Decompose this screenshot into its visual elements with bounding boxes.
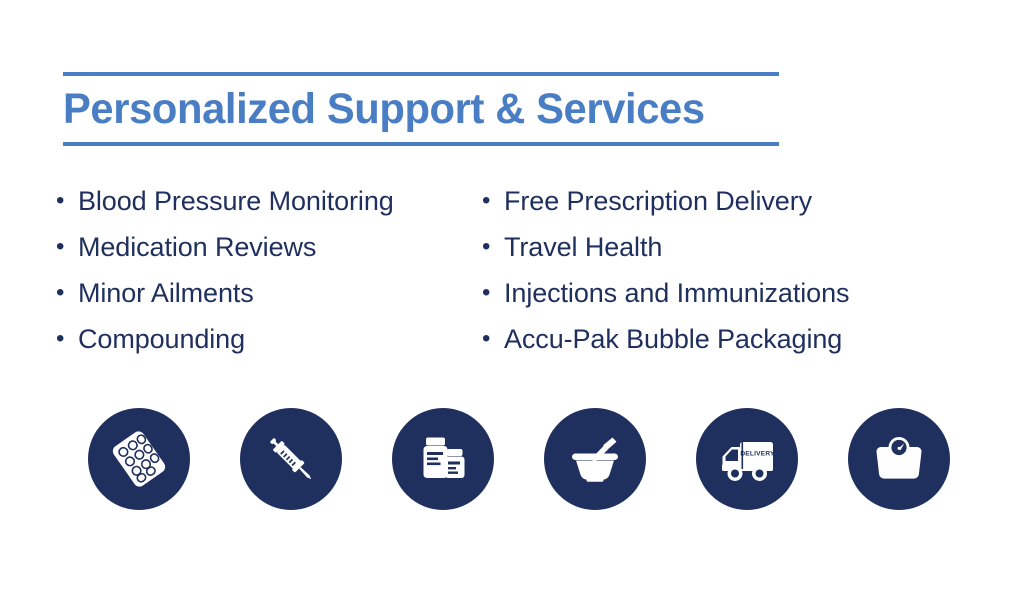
title-rule-bottom xyxy=(63,142,779,146)
page-title: Personalized Support & Services xyxy=(63,76,758,142)
services-column-right: • Free Prescription Delivery • Travel He… xyxy=(482,178,1025,362)
list-item: • Injections and Immunizations xyxy=(482,270,1025,316)
pill-bottles-icon xyxy=(412,428,474,490)
service-label: Compounding xyxy=(78,316,245,362)
icon-badge-blister-pack xyxy=(88,408,190,510)
service-label: Minor Ailments xyxy=(78,270,254,316)
list-item: • Compounding xyxy=(56,316,482,362)
icon-badge-weight-scale xyxy=(848,408,950,510)
list-item: • Minor Ailments xyxy=(56,270,482,316)
bullet-dot-icon: • xyxy=(482,270,504,316)
services-columns: • Blood Pressure Monitoring • Medication… xyxy=(0,178,1025,362)
bullet-dot-icon: • xyxy=(56,270,78,316)
service-label: Medication Reviews xyxy=(78,224,316,270)
bullet-dot-icon: • xyxy=(482,224,504,270)
slide-canvas: Personalized Support & Services • Blood … xyxy=(0,0,1025,590)
service-label: Injections and Immunizations xyxy=(504,270,849,316)
bullet-dot-icon: • xyxy=(56,178,78,224)
list-item: • Travel Health xyxy=(482,224,1025,270)
syringe-icon xyxy=(260,428,322,490)
heading-block: Personalized Support & Services xyxy=(63,72,779,146)
list-item: • Accu-Pak Bubble Packaging xyxy=(482,316,1025,362)
icon-badge-delivery-truck: DELIVERY xyxy=(696,408,798,510)
weight-scale-icon xyxy=(868,428,930,490)
icon-badge-pill-bottles xyxy=(392,408,494,510)
list-item: • Medication Reviews xyxy=(56,224,482,270)
icon-badge-syringe xyxy=(240,408,342,510)
bullet-dot-icon: • xyxy=(56,224,78,270)
service-label: Accu-Pak Bubble Packaging xyxy=(504,316,842,362)
blister-pack-icon xyxy=(108,428,170,490)
bullet-dot-icon: • xyxy=(56,316,78,362)
service-label: Travel Health xyxy=(504,224,662,270)
list-item: • Free Prescription Delivery xyxy=(482,178,1025,224)
bullet-dot-icon: • xyxy=(482,178,504,224)
services-column-left: • Blood Pressure Monitoring • Medication… xyxy=(0,178,482,362)
delivery-truck-icon: DELIVERY xyxy=(714,426,780,492)
delivery-van-text: DELIVERY xyxy=(740,451,775,458)
services-list-left: • Blood Pressure Monitoring • Medication… xyxy=(56,178,482,362)
icon-badge-mortar-pestle xyxy=(544,408,646,510)
mortar-pestle-icon xyxy=(563,427,627,491)
service-label: Blood Pressure Monitoring xyxy=(78,178,394,224)
bullet-dot-icon: • xyxy=(482,316,504,362)
service-icon-row: DELIVERY xyxy=(88,408,950,510)
service-label: Free Prescription Delivery xyxy=(504,178,812,224)
list-item: • Blood Pressure Monitoring xyxy=(56,178,482,224)
services-list-right: • Free Prescription Delivery • Travel He… xyxy=(482,178,1025,362)
